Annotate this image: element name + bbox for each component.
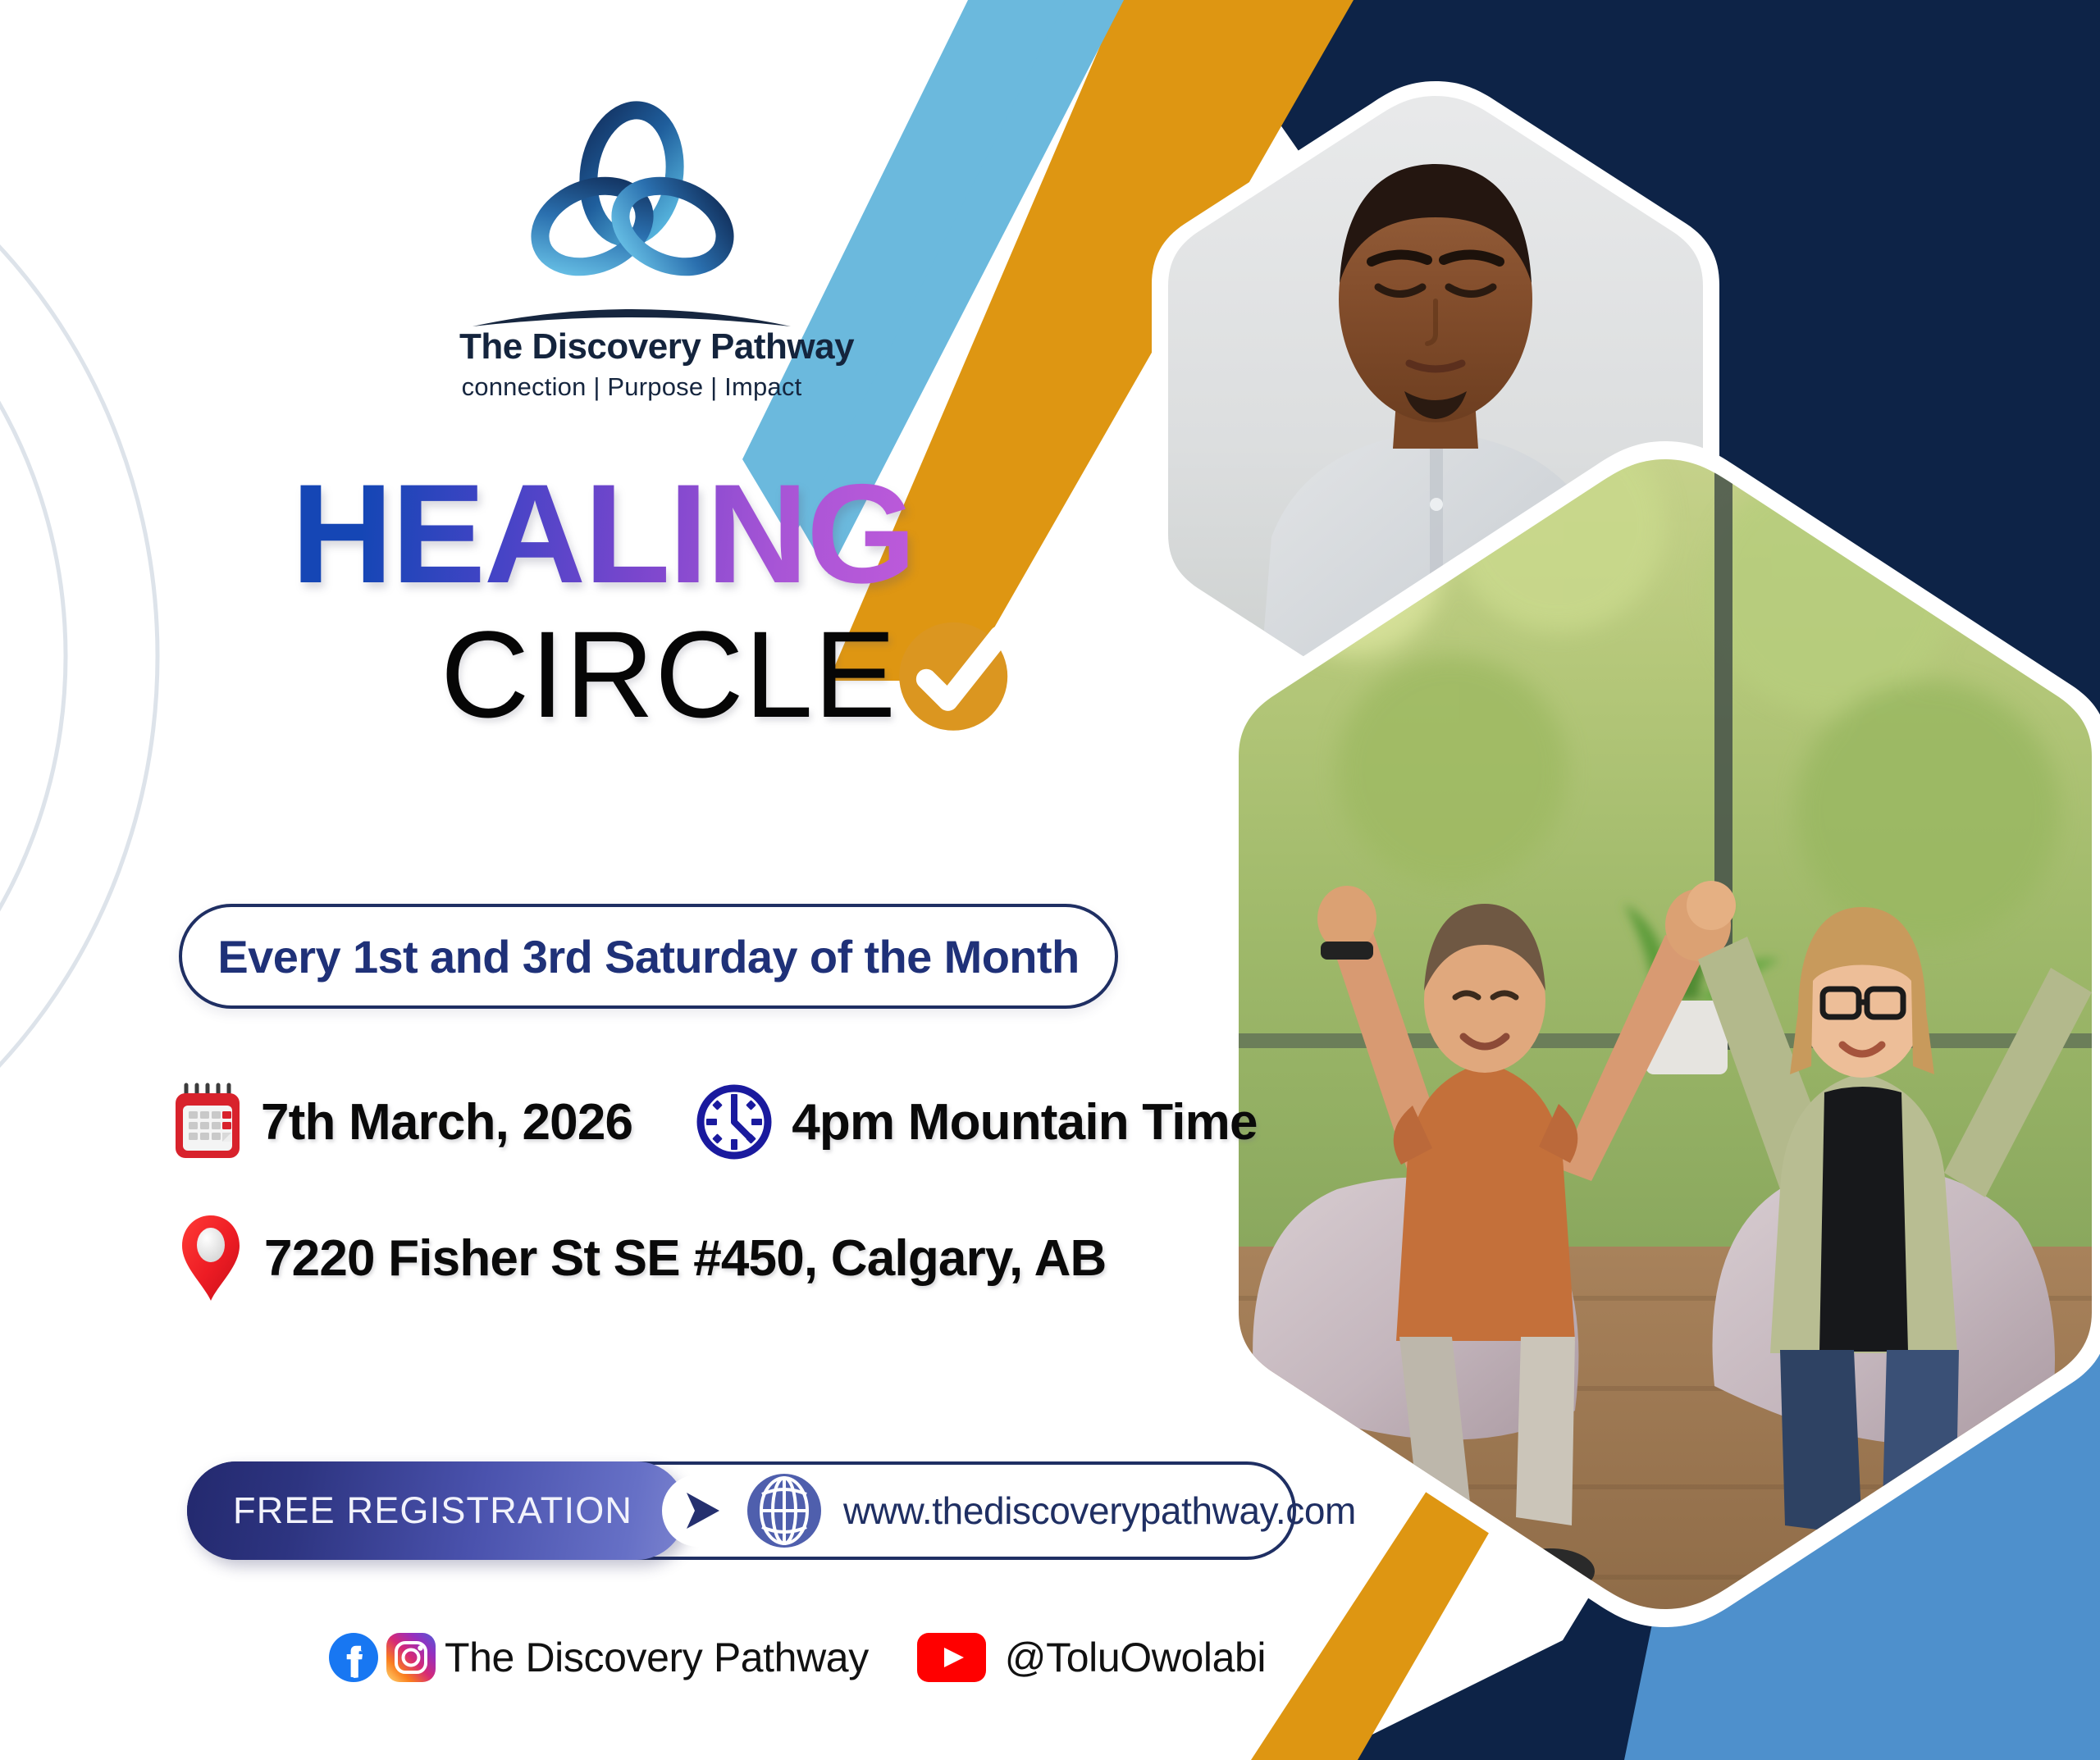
headline-circle-row: CIRCLE: [441, 606, 1024, 741]
youtube-icon[interactable]: [916, 1632, 987, 1683]
facebook-icon[interactable]: [328, 1632, 379, 1683]
detail-row-location: 7220 Fisher St SE #450, Calgary, AB: [172, 1212, 1258, 1304]
detail-row-date-time: 7th March, 2026: [172, 1083, 1258, 1161]
social-footer: The Discovery Pathway @ToluOwolabi: [328, 1632, 1266, 1683]
event-details: 7th March, 2026: [172, 1083, 1258, 1304]
detail-time: 4pm Mountain Time: [632, 1083, 1257, 1161]
play-arrow-icon[interactable]: [659, 1471, 737, 1550]
logo-name: The Discovery Pathway: [459, 328, 804, 366]
social-handle-1: The Discovery Pathway: [445, 1634, 869, 1681]
instagram-icon[interactable]: [386, 1632, 436, 1683]
brand-logo: The Discovery Pathway connection | Purpo…: [459, 98, 804, 402]
headline-circle: CIRCLE: [441, 613, 897, 736]
registration-bar: www.thediscoverypathway.com FREE REGISTR…: [187, 1461, 1296, 1560]
calendar-icon: [172, 1083, 243, 1161]
free-registration-label: FREE REGISTRATION: [233, 1489, 632, 1532]
clock-icon: [695, 1083, 774, 1161]
detail-location: 7220 Fisher St SE #450, Calgary, AB: [172, 1212, 1107, 1304]
check-circle-icon: [888, 606, 1024, 741]
detail-time-value: 4pm Mountain Time: [792, 1093, 1257, 1151]
poster-canvas: The Discovery Pathway connection | Purpo…: [0, 0, 2100, 1760]
globe-icon: [745, 1471, 824, 1550]
social-handle-2: @ToluOwolabi: [1005, 1634, 1266, 1681]
logo-swoosh-icon: [468, 299, 796, 328]
recurrence-pill: Every 1st and 3rd Saturday of the Month: [179, 904, 1118, 1009]
headline-healing: HEALING: [291, 467, 915, 601]
recurrence-text: Every 1st and 3rd Saturday of the Month: [217, 930, 1079, 983]
website-url: www.thediscoverypathway.com: [843, 1461, 1356, 1560]
trefoil-knot-logo-icon: [509, 98, 755, 303]
logo-tagline: connection | Purpose | Impact: [459, 372, 804, 402]
detail-location-value: 7220 Fisher St SE #450, Calgary, AB: [264, 1229, 1107, 1288]
group-celebrating-photo: [1206, 426, 2100, 1640]
free-registration-button[interactable]: FREE REGISTRATION: [187, 1461, 686, 1560]
detail-date-value: 7th March, 2026: [261, 1093, 632, 1151]
detail-date: 7th March, 2026: [172, 1083, 632, 1161]
map-pin-icon: [179, 1212, 243, 1304]
page-title: HEALING CIRCLE: [291, 467, 1024, 741]
